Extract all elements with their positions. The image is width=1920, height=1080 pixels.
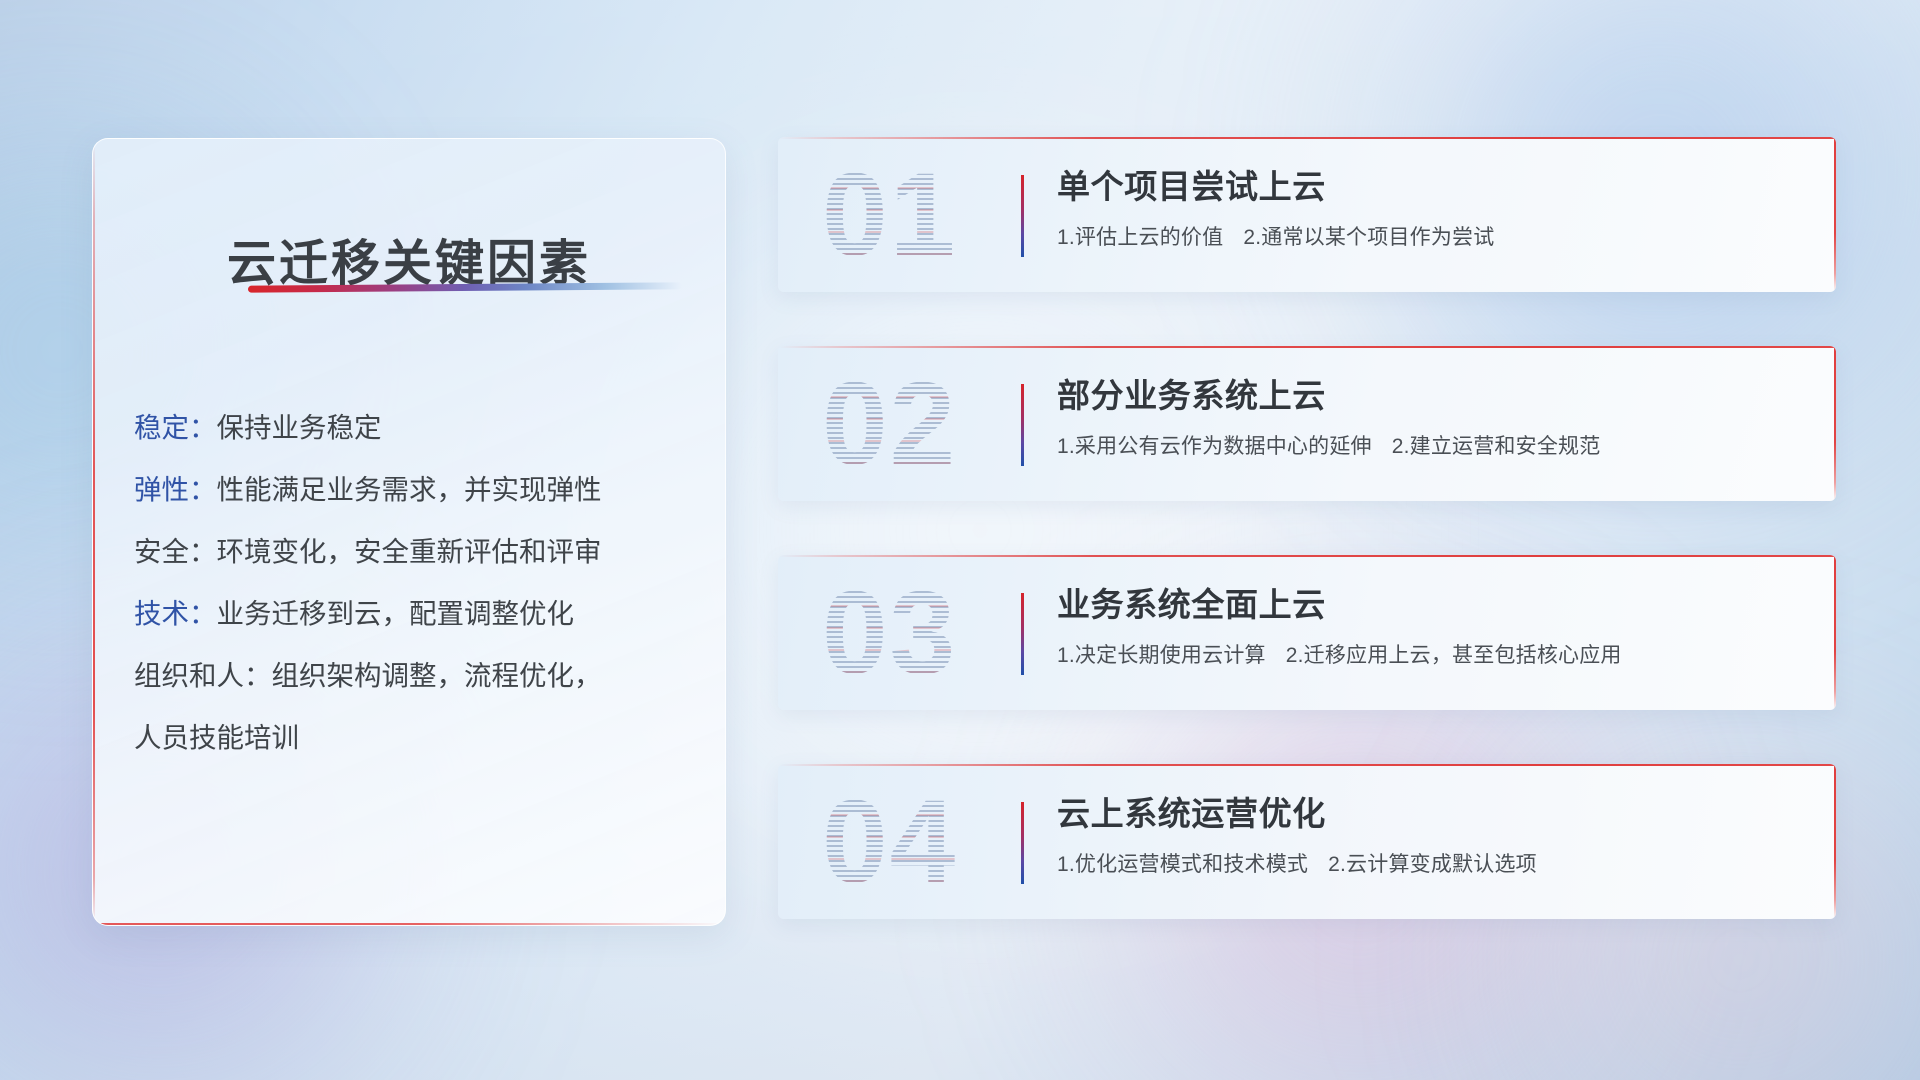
- factor-text: 环境变化，安全重新评估和评审: [217, 536, 602, 567]
- stage-divider-bar: [1021, 593, 1024, 675]
- stage-divider-bar: [1021, 802, 1024, 884]
- stage-number-ghost-tint: 01: [822, 143, 1022, 288]
- stage-sub-point-2: 2.通常以某个项目作为尝试: [1243, 226, 1494, 249]
- stage-sub-point-1: 1.优化运营模式和技术模式: [1057, 853, 1308, 876]
- stage-divider-bar: [1021, 175, 1024, 257]
- factor-label: 弹性：: [134, 474, 217, 505]
- factor-label: 稳定：: [134, 412, 217, 443]
- factor-item-technology: 技术：业务迁移到云，配置调整优化: [134, 583, 699, 645]
- factor-item-elasticity: 弹性：性能满足业务需求，并实现弹性: [134, 459, 699, 521]
- factor-label: 技术：: [134, 598, 217, 629]
- stage-title: 部分业务系统上云: [1057, 374, 1806, 418]
- stage-card-02[interactable]: 02 02 部分业务系统上云 1.采用公有云作为数据中心的延伸2.建立运营和安全…: [778, 346, 1836, 501]
- stage-body: 单个项目尝试上云 1.评估上云的价值2.通常以某个项目作为尝试: [1057, 165, 1806, 253]
- stage-sub-point-1: 1.采用公有云作为数据中心的延伸: [1057, 435, 1372, 458]
- stage-number-ghost-tint: 03: [822, 561, 1022, 706]
- factor-text: 性能满足业务需求，并实现弹性: [217, 474, 602, 505]
- stage-number-ghost-tint: 04: [822, 770, 1022, 915]
- factor-item-organization: 组织和人：组织架构调整，流程优化，: [134, 645, 699, 707]
- stage-card-04[interactable]: 04 04 云上系统运营优化 1.优化运营模式和技术模式2.云计算变成默认选项: [778, 764, 1836, 919]
- factor-item-security: 安全：环境变化，安全重新评估和评审: [134, 521, 699, 583]
- stage-body: 部分业务系统上云 1.采用公有云作为数据中心的延伸2.建立运营和安全规范: [1057, 374, 1806, 462]
- factor-text: 人员技能培训: [134, 722, 299, 753]
- stage-sub-point-1: 1.决定长期使用云计算: [1057, 644, 1266, 667]
- key-factors-panel: 云迁移关键因素 稳定：保持业务稳定 弹性：性能满足业务需求，并实现弹性 安全：环…: [92, 138, 726, 926]
- stage-sub-point-1: 1.评估上云的价值: [1057, 226, 1223, 249]
- factor-label: 组织和人：: [134, 660, 272, 691]
- factor-list: 稳定：保持业务稳定 弹性：性能满足业务需求，并实现弹性 安全：环境变化，安全重新…: [134, 397, 699, 769]
- stage-title: 业务系统全面上云: [1057, 583, 1806, 627]
- stage-number-ghost-tint: 02: [822, 352, 1022, 497]
- factor-item-organization-cont: 人员技能培训: [134, 707, 699, 769]
- stage-title: 云上系统运营优化: [1057, 792, 1806, 836]
- factor-text: 业务迁移到云，配置调整优化: [217, 598, 575, 629]
- factor-text: 保持业务稳定: [217, 412, 382, 443]
- stage-body: 业务系统全面上云 1.决定长期使用云计算2.迁移应用上云，甚至包括核心应用: [1057, 583, 1806, 671]
- stage-card-03[interactable]: 03 03 业务系统全面上云 1.决定长期使用云计算2.迁移应用上云，甚至包括核…: [778, 555, 1836, 710]
- stage-subtitle: 1.采用公有云作为数据中心的延伸2.建立运营和安全规范: [1057, 432, 1806, 462]
- stage-card-01[interactable]: 01 01 单个项目尝试上云 1.评估上云的价值2.通常以某个项目作为尝试: [778, 137, 1836, 292]
- slide-canvas: 云迁移关键因素 稳定：保持业务稳定 弹性：性能满足业务需求，并实现弹性 安全：环…: [0, 0, 1920, 1080]
- factor-item-stability: 稳定：保持业务稳定: [134, 397, 699, 459]
- stage-title: 单个项目尝试上云: [1057, 165, 1806, 209]
- factor-text: 组织架构调整，流程优化，: [272, 660, 602, 691]
- stage-sub-point-2: 2.云计算变成默认选项: [1328, 853, 1537, 876]
- stage-divider-bar: [1021, 384, 1024, 466]
- stage-subtitle: 1.评估上云的价值2.通常以某个项目作为尝试: [1057, 223, 1806, 253]
- stage-sub-point-2: 2.建立运营和安全规范: [1392, 435, 1601, 458]
- stage-sub-point-2: 2.迁移应用上云，甚至包括核心应用: [1286, 644, 1622, 667]
- stage-subtitle: 1.决定长期使用云计算2.迁移应用上云，甚至包括核心应用: [1057, 641, 1806, 671]
- stage-subtitle: 1.优化运营模式和技术模式2.云计算变成默认选项: [1057, 850, 1806, 880]
- migration-stage-list: 01 01 单个项目尝试上云 1.评估上云的价值2.通常以某个项目作为尝试 02…: [778, 137, 1836, 919]
- factor-label: 安全：: [134, 536, 217, 567]
- stage-body: 云上系统运营优化 1.优化运营模式和技术模式2.云计算变成默认选项: [1057, 792, 1806, 880]
